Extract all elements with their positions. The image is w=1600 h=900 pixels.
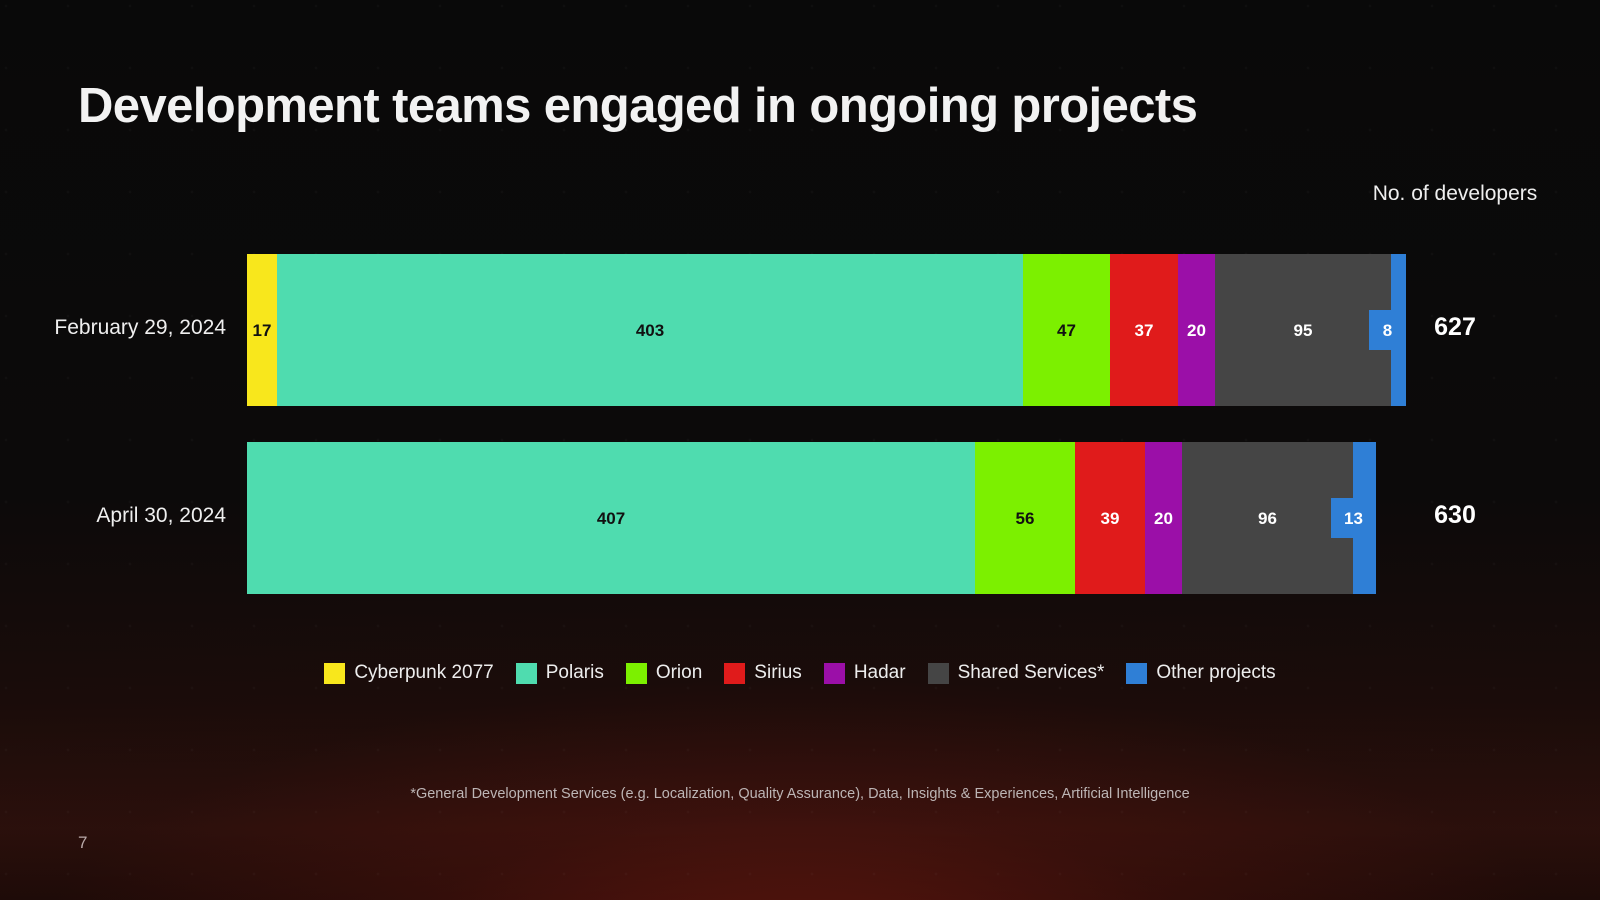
legend-label: Orion <box>656 662 702 684</box>
legend-swatch-icon <box>928 663 949 684</box>
legend-item[interactable]: Sirius <box>724 662 802 684</box>
footnote: *General Development Services (e.g. Loca… <box>0 786 1600 802</box>
bar-segment[interactable]: 20 <box>1178 254 1215 406</box>
bar-segment[interactable]: 39 <box>1075 442 1145 594</box>
bar-segment[interactable]: 20 <box>1145 442 1182 594</box>
chart-legend: Cyberpunk 2077PolarisOrionSiriusHadarSha… <box>0 662 1600 684</box>
bar-segment[interactable]: 47 <box>1023 254 1110 406</box>
segment-value: 39 <box>1101 510 1120 527</box>
page-title: Development teams engaged in ongoing pro… <box>78 78 1197 134</box>
bar-segment[interactable]: 13 <box>1353 442 1376 594</box>
legend-swatch-icon <box>626 663 647 684</box>
legend-label: Cyberpunk 2077 <box>354 662 493 684</box>
segment-value: 47 <box>1057 322 1076 339</box>
segment-value: 407 <box>597 510 625 527</box>
legend-label: Hadar <box>854 662 906 684</box>
slide-canvas: Development teams engaged in ongoing pro… <box>0 0 1600 900</box>
segment-value: 20 <box>1154 510 1173 527</box>
legend-item[interactable]: Cyberpunk 2077 <box>324 662 493 684</box>
bar-segment[interactable]: 37 <box>1110 254 1178 406</box>
page-number: 7 <box>78 833 87 853</box>
legend-swatch-icon <box>516 663 537 684</box>
row-category-label: February 29, 2024 <box>0 316 226 340</box>
bar-segment[interactable]: 17 <box>247 254 277 406</box>
segment-value: 96 <box>1258 510 1277 527</box>
legend-item[interactable]: Polaris <box>516 662 604 684</box>
legend-item[interactable]: Shared Services* <box>928 662 1105 684</box>
legend-swatch-icon <box>824 663 845 684</box>
segment-value: 95 <box>1294 322 1313 339</box>
segment-value: 37 <box>1135 322 1154 339</box>
segment-value: 20 <box>1187 322 1206 339</box>
segment-value: 403 <box>636 322 664 339</box>
segment-value: 17 <box>253 322 272 339</box>
bar-segment[interactable]: 96 <box>1182 442 1353 594</box>
legend-swatch-icon <box>724 663 745 684</box>
legend-item[interactable]: Orion <box>626 662 702 684</box>
segment-value-callout: 13 <box>1331 498 1376 538</box>
legend-label: Shared Services* <box>958 662 1105 684</box>
row-total-value: 627 <box>1330 313 1580 342</box>
legend-item[interactable]: Other projects <box>1126 662 1275 684</box>
developers-column-header: No. of developers <box>1330 180 1580 207</box>
legend-label: Polaris <box>546 662 604 684</box>
legend-item[interactable]: Hadar <box>824 662 906 684</box>
bar-segment[interactable]: 8 <box>1391 254 1406 406</box>
legend-swatch-icon <box>1126 663 1147 684</box>
segment-value: 8 <box>1383 322 1392 339</box>
bar-segment[interactable]: 56 <box>975 442 1075 594</box>
segment-value-callout: 8 <box>1369 310 1406 350</box>
bar-segment[interactable]: 407 <box>247 442 975 594</box>
segment-value: 56 <box>1016 510 1035 527</box>
legend-swatch-icon <box>324 663 345 684</box>
stacked-bar: 17403473720958 <box>247 254 1406 406</box>
legend-label: Sirius <box>754 662 802 684</box>
bar-segment[interactable]: 403 <box>277 254 1023 406</box>
legend-label: Other projects <box>1156 662 1275 684</box>
row-category-label: April 30, 2024 <box>0 504 226 528</box>
segment-value: 13 <box>1344 510 1363 527</box>
stacked-bar: 4075639209613 <box>247 442 1376 594</box>
